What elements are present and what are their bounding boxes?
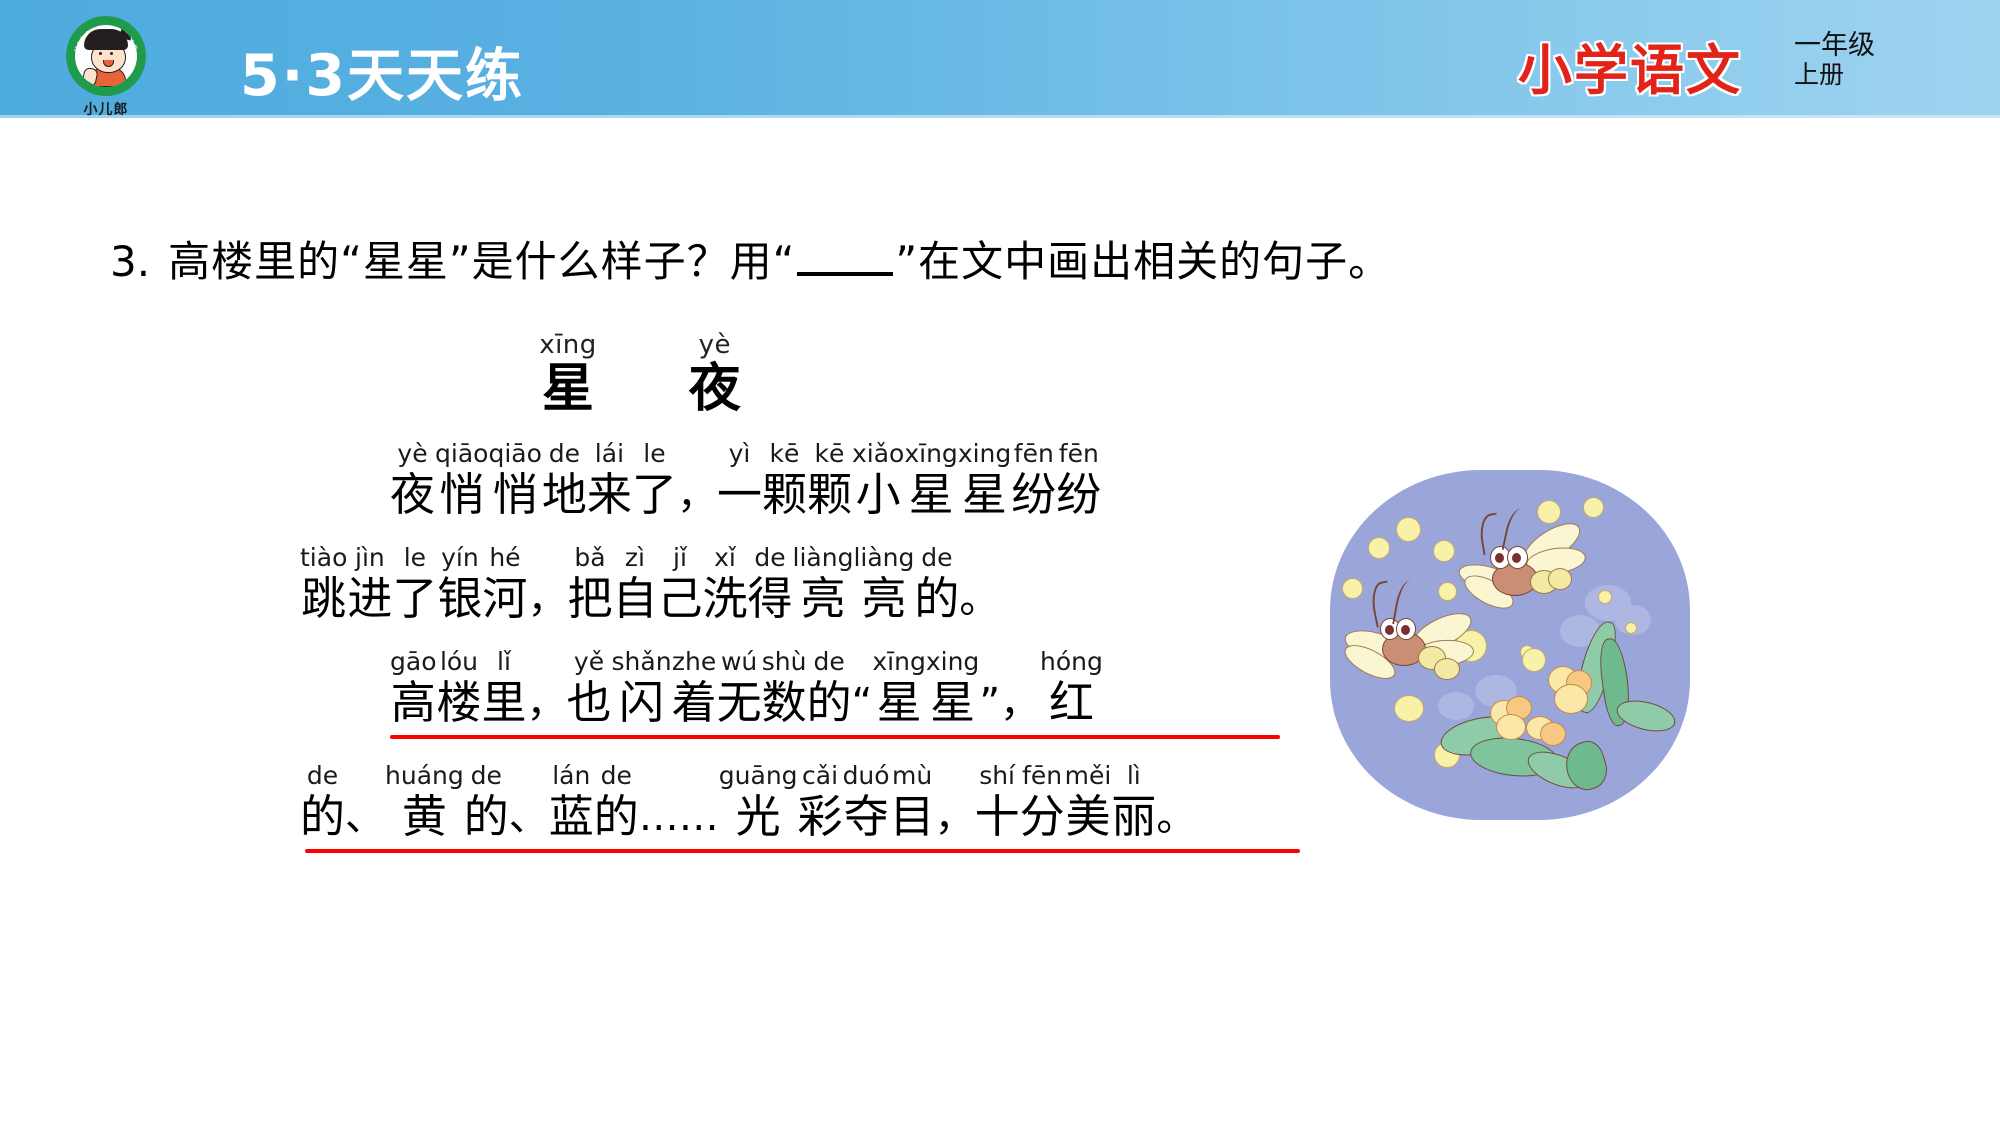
glow-dot-icon	[1598, 590, 1612, 604]
pinyin-label: wú	[721, 647, 757, 677]
text-unit: qiāo悄	[435, 439, 488, 521]
text-unit: le了	[392, 543, 437, 625]
hanzi-character: 小	[856, 469, 901, 521]
subject-title: 小学语文	[1518, 26, 1742, 105]
hanzi-character: 也	[567, 677, 612, 729]
text-unit: jìn进	[347, 543, 392, 625]
pinyin-label: hé	[489, 543, 520, 573]
hanzi-character: ，	[935, 791, 975, 843]
glow-dot-icon	[1394, 695, 1424, 722]
text-unit: měi美	[1065, 761, 1112, 843]
text-unit: xiǎo小	[852, 439, 904, 521]
title-pinyin: yè	[699, 330, 731, 360]
hanzi-character: ，	[527, 573, 567, 625]
pinyin-label: liàng	[853, 543, 914, 573]
pinyin-label: hóng	[1040, 647, 1103, 677]
pinyin-label: qiāo	[488, 439, 541, 469]
hanzi-character: 亮	[861, 573, 906, 625]
glow-dot-icon	[1396, 517, 1421, 542]
pinyin-label: lì	[1127, 761, 1141, 791]
pinyin-label: liàng	[793, 543, 854, 573]
text-unit: tiào跳	[300, 543, 347, 625]
text-unit: gāo高	[390, 647, 436, 729]
text-unit: lán蓝	[549, 761, 594, 843]
text-unit: de得	[748, 543, 793, 625]
hanzi-character: 楼	[436, 677, 481, 729]
pinyin-label: xīng	[904, 439, 957, 469]
hanzi-character: “	[852, 677, 873, 729]
hanzi-character: 进	[347, 573, 392, 625]
text-unit: de的	[914, 543, 959, 625]
pinyin-label: xǐ	[714, 543, 736, 573]
glow-dot-icon	[1438, 582, 1457, 601]
title-pinyin: xīng	[539, 330, 597, 360]
question-blank-underline	[797, 246, 893, 276]
pinyin-label: lóu	[440, 647, 478, 677]
glow-dot-icon	[1522, 648, 1546, 672]
question-number: 3.	[110, 237, 150, 286]
text-unit: hóng红	[1040, 647, 1103, 729]
text-unit: zhe着	[672, 647, 717, 729]
pinyin-label: shù	[762, 647, 807, 677]
pinyin-label: yě	[574, 647, 604, 677]
red-underline	[305, 849, 1300, 853]
hanzi-character: 了	[632, 469, 677, 521]
pinyin-label: gāo	[390, 647, 436, 677]
page-header: XIAO ER LANG 小儿郎 5·3天天练 小学语文 一年级 上册	[0, 0, 2000, 115]
text-unit: qiāo悄	[488, 439, 541, 521]
flower-petal-icon	[1554, 684, 1588, 714]
text-unit: le了	[632, 439, 677, 521]
title-char-block: yè夜	[689, 330, 741, 417]
pinyin-label: shí	[979, 761, 1015, 791]
text-unit: 。	[1156, 761, 1196, 843]
glow-dot-icon	[1625, 622, 1637, 634]
pinyin-label: fēn	[1022, 761, 1062, 791]
text-unit: ……	[639, 761, 719, 843]
red-underline	[390, 735, 1280, 739]
text-unit: kē颗	[762, 439, 807, 521]
pinyin-label: xiǎo	[852, 439, 904, 469]
hanzi-character: 的	[807, 677, 852, 729]
text-unit: ，	[1000, 647, 1040, 729]
hanzi-character: 星	[962, 469, 1007, 521]
glow-dot-icon	[1342, 578, 1363, 599]
passage-line: tiào跳jìn进le了yín银hé河，bǎ把zì自jǐ己xǐ洗de得liàng…	[0, 543, 1320, 625]
hanzi-character: 亮	[800, 573, 845, 625]
hanzi-character: 。	[959, 573, 999, 625]
text-unit: de的	[594, 761, 639, 843]
illustration-fireflies	[1330, 470, 1690, 820]
question-line: 3. 高楼里的“星星”是什么样子？用“ ”在文中画出相关的句子。	[110, 228, 1391, 289]
hanzi-character: 夺	[844, 791, 889, 843]
hanzi-character: 来	[587, 469, 632, 521]
text-unit: bǎ把	[567, 543, 612, 625]
hanzi-character: 十	[975, 791, 1020, 843]
hanzi-character: 红	[1049, 677, 1094, 729]
text-unit: jǐ己	[657, 543, 702, 625]
hanzi-character: 洗	[702, 573, 747, 625]
pinyin-label: lái	[595, 439, 624, 469]
passage-line: gāo高lóu楼lǐ里，yě也shǎn闪zhe着wú无shù数de的“xīng星…	[0, 647, 1320, 739]
logo-mascot-icon	[75, 25, 137, 87]
glow-dot-icon	[1433, 540, 1455, 562]
pinyin-label: xing	[926, 647, 979, 677]
hanzi-character: 闪	[619, 677, 664, 729]
pinyin-label: de	[549, 439, 580, 469]
hanzi-character: ”	[979, 677, 1000, 729]
hanzi-character: 着	[672, 677, 717, 729]
text-unit: 、	[509, 761, 549, 843]
pinyin-label: cǎi	[802, 761, 838, 791]
pinyin-label: qiāo	[435, 439, 488, 469]
text-unit: yě也	[567, 647, 612, 729]
pinyin-label: de	[754, 543, 785, 573]
hanzi-character: 己	[657, 573, 702, 625]
pinyin-label: de	[307, 761, 338, 791]
text-unit: hé河	[482, 543, 527, 625]
title-character: 夜	[689, 362, 741, 417]
passage-lines: yè夜qiāo悄qiāo悄de地lái来le了，yì一kē颗kē颗xiǎo小xī…	[0, 439, 1320, 853]
hanzi-character: 光	[736, 791, 781, 843]
glow-dot-icon	[1537, 500, 1561, 524]
text-unit: ，	[527, 647, 567, 729]
hanzi-character: 了	[392, 573, 437, 625]
pinyin-label: zhe	[672, 647, 716, 677]
text-unit: mù目	[890, 761, 935, 843]
passage-line: de的、huáng黄de的、lán蓝de的……guāng光cǎi彩duó夺mù目…	[0, 761, 1320, 853]
text-unit: guāng光	[719, 761, 798, 843]
text-unit: kē颗	[807, 439, 852, 521]
pinyin-label: yè	[397, 439, 427, 469]
hanzi-character: 、	[345, 791, 385, 843]
hanzi-character: 分	[1020, 791, 1065, 843]
brand-title: 5·3天天练	[240, 30, 524, 112]
text-unit: ”	[979, 647, 1000, 729]
pinyin-label: kē	[770, 439, 800, 469]
pinyin-label: yín	[441, 543, 479, 573]
hanzi-character: 星	[877, 677, 922, 729]
cloud-puff-icon	[1438, 692, 1474, 720]
text-unit: fēn分	[1020, 761, 1065, 843]
hanzi-character: ，	[1000, 677, 1040, 729]
hanzi-character: 数	[762, 677, 807, 729]
grade-label: 一年级	[1794, 30, 1875, 61]
text-unit: lóu楼	[436, 647, 481, 729]
pinyin-label: huáng	[385, 761, 464, 791]
hanzi-character: 把	[567, 573, 612, 625]
text-unit: ，	[935, 761, 975, 843]
text-unit: xing星	[926, 647, 979, 729]
text-unit: shǎn闪	[612, 647, 672, 729]
text-unit: de的	[464, 761, 509, 843]
pinyin-label: duó	[843, 761, 890, 791]
passage-title: xīng星yè夜	[0, 330, 1320, 417]
hanzi-character: ，	[527, 677, 567, 729]
hanzi-character: 自	[612, 573, 657, 625]
grade-info: 一年级 上册	[1794, 30, 1875, 90]
flower-petal-icon	[1496, 714, 1526, 740]
pinyin-label: de	[814, 647, 845, 677]
title-char-block: xīng星	[539, 330, 597, 417]
text-unit: de的	[300, 761, 345, 843]
pinyin-label: shǎn	[612, 647, 672, 677]
text-unit: lái来	[587, 439, 632, 521]
hanzi-character: 跳	[301, 573, 346, 625]
hanzi-character: ，	[677, 469, 717, 521]
text-unit: yín银	[437, 543, 482, 625]
hanzi-character: ……	[639, 791, 719, 843]
pinyin-label: guāng	[719, 761, 798, 791]
question-text: 高楼里的“星星”是什么样子？用“ ”在文中画出相关的句子。	[168, 228, 1391, 289]
text-unit: cǎi彩	[798, 761, 843, 843]
hanzi-character: 彩	[798, 791, 843, 843]
hanzi-character: 的	[914, 573, 959, 625]
hanzi-character: 的	[464, 791, 509, 843]
text-unit: xīng星	[904, 439, 957, 521]
hanzi-character: 里	[482, 677, 527, 729]
header-divider	[0, 115, 2000, 118]
pinyin-label: lǐ	[497, 647, 511, 677]
hanzi-character: 悄	[493, 469, 538, 521]
hanzi-character: 目	[890, 791, 935, 843]
hanzi-character: 黄	[402, 791, 447, 843]
flower-petal-icon	[1540, 722, 1566, 746]
glow-dot-icon	[1368, 537, 1390, 559]
question-text-part1: 高楼里的“星星”是什么样子？用“	[168, 228, 795, 289]
hanzi-character: 丽	[1111, 791, 1156, 843]
pinyin-label: lán	[552, 761, 590, 791]
hanzi-character: 。	[1156, 791, 1196, 843]
publisher-logo: XIAO ER LANG 小儿郎	[45, 16, 167, 124]
text-unit: de的	[807, 647, 852, 729]
passage-block: xīng星yè夜 yè夜qiāo悄qiāo悄de地lái来le了，yì一kē颗k…	[0, 330, 1320, 853]
pinyin-label: yì	[729, 439, 751, 469]
hanzi-character: 夜	[390, 469, 435, 521]
text-unit: xīng星	[872, 647, 925, 729]
pinyin-label: xing	[958, 439, 1011, 469]
text-unit: xing星	[958, 439, 1011, 521]
pinyin-label: de	[471, 761, 502, 791]
text-unit: fēn纷	[1056, 439, 1101, 521]
pinyin-label: mù	[892, 761, 932, 791]
text-unit: de地	[542, 439, 587, 521]
hanzi-character: 一	[717, 469, 762, 521]
hanzi-character: 得	[748, 573, 793, 625]
pinyin-label: bǎ	[574, 543, 605, 573]
hanzi-character: 无	[717, 677, 762, 729]
hanzi-character: 颗	[762, 469, 807, 521]
text-unit: zì自	[612, 543, 657, 625]
pinyin-label: fēn	[1014, 439, 1054, 469]
text-unit: yì一	[717, 439, 762, 521]
title-character: 星	[542, 362, 594, 417]
text-unit: yè夜	[390, 439, 435, 521]
pinyin-label: le	[404, 543, 426, 573]
hanzi-character: 星	[909, 469, 954, 521]
text-unit: “	[852, 647, 873, 729]
pinyin-label: de	[921, 543, 952, 573]
hanzi-character: 悄	[439, 469, 484, 521]
hanzi-character: 颗	[807, 469, 852, 521]
hanzi-character: 蓝	[549, 791, 594, 843]
hanzi-character: 的	[594, 791, 639, 843]
text-unit: shù数	[762, 647, 807, 729]
text-unit: fēn纷	[1011, 439, 1056, 521]
pinyin-label: jìn	[355, 543, 385, 573]
text-unit: xǐ洗	[702, 543, 747, 625]
text-unit: ，	[677, 439, 717, 521]
hanzi-character: 高	[391, 677, 436, 729]
passage-line: yè夜qiāo悄qiāo悄de地lái来le了，yì一kē颗kē颗xiǎo小xī…	[0, 439, 1320, 521]
text-unit: ，	[527, 543, 567, 625]
hanzi-character: 纷	[1011, 469, 1056, 521]
hanzi-character: 地	[542, 469, 587, 521]
hanzi-character: 河	[482, 573, 527, 625]
hanzi-character: 美	[1065, 791, 1110, 843]
text-unit: duó夺	[843, 761, 890, 843]
pinyin-label: zì	[625, 543, 645, 573]
hanzi-character: 银	[437, 573, 482, 625]
text-unit: liàng亮	[853, 543, 914, 625]
pinyin-label: měi	[1065, 761, 1112, 791]
glow-dot-icon	[1583, 497, 1604, 518]
hanzi-character: 纷	[1056, 469, 1101, 521]
pinyin-label: le	[643, 439, 665, 469]
pinyin-label: jǐ	[673, 543, 687, 573]
hanzi-character: 星	[930, 677, 975, 729]
text-unit: wú无	[717, 647, 762, 729]
pinyin-label: tiào	[300, 543, 347, 573]
pinyin-label: xīng	[872, 647, 925, 677]
logo-circle: XIAO ER LANG	[66, 16, 146, 96]
text-unit: huáng黄	[385, 761, 464, 843]
pinyin-label: kē	[815, 439, 845, 469]
text-unit: lǐ里	[482, 647, 527, 729]
pinyin-label: fēn	[1059, 439, 1099, 469]
volume-label: 上册	[1794, 61, 1844, 90]
hanzi-character: 、	[509, 791, 549, 843]
hanzi-character: 的	[300, 791, 345, 843]
text-unit: liàng亮	[793, 543, 854, 625]
text-unit: 。	[959, 543, 999, 625]
text-unit: lì丽	[1111, 761, 1156, 843]
text-unit: shí十	[975, 761, 1020, 843]
question-text-part2: ”在文中画出相关的句子。	[895, 228, 1391, 289]
text-unit: 、	[345, 761, 385, 843]
pinyin-label: de	[601, 761, 632, 791]
